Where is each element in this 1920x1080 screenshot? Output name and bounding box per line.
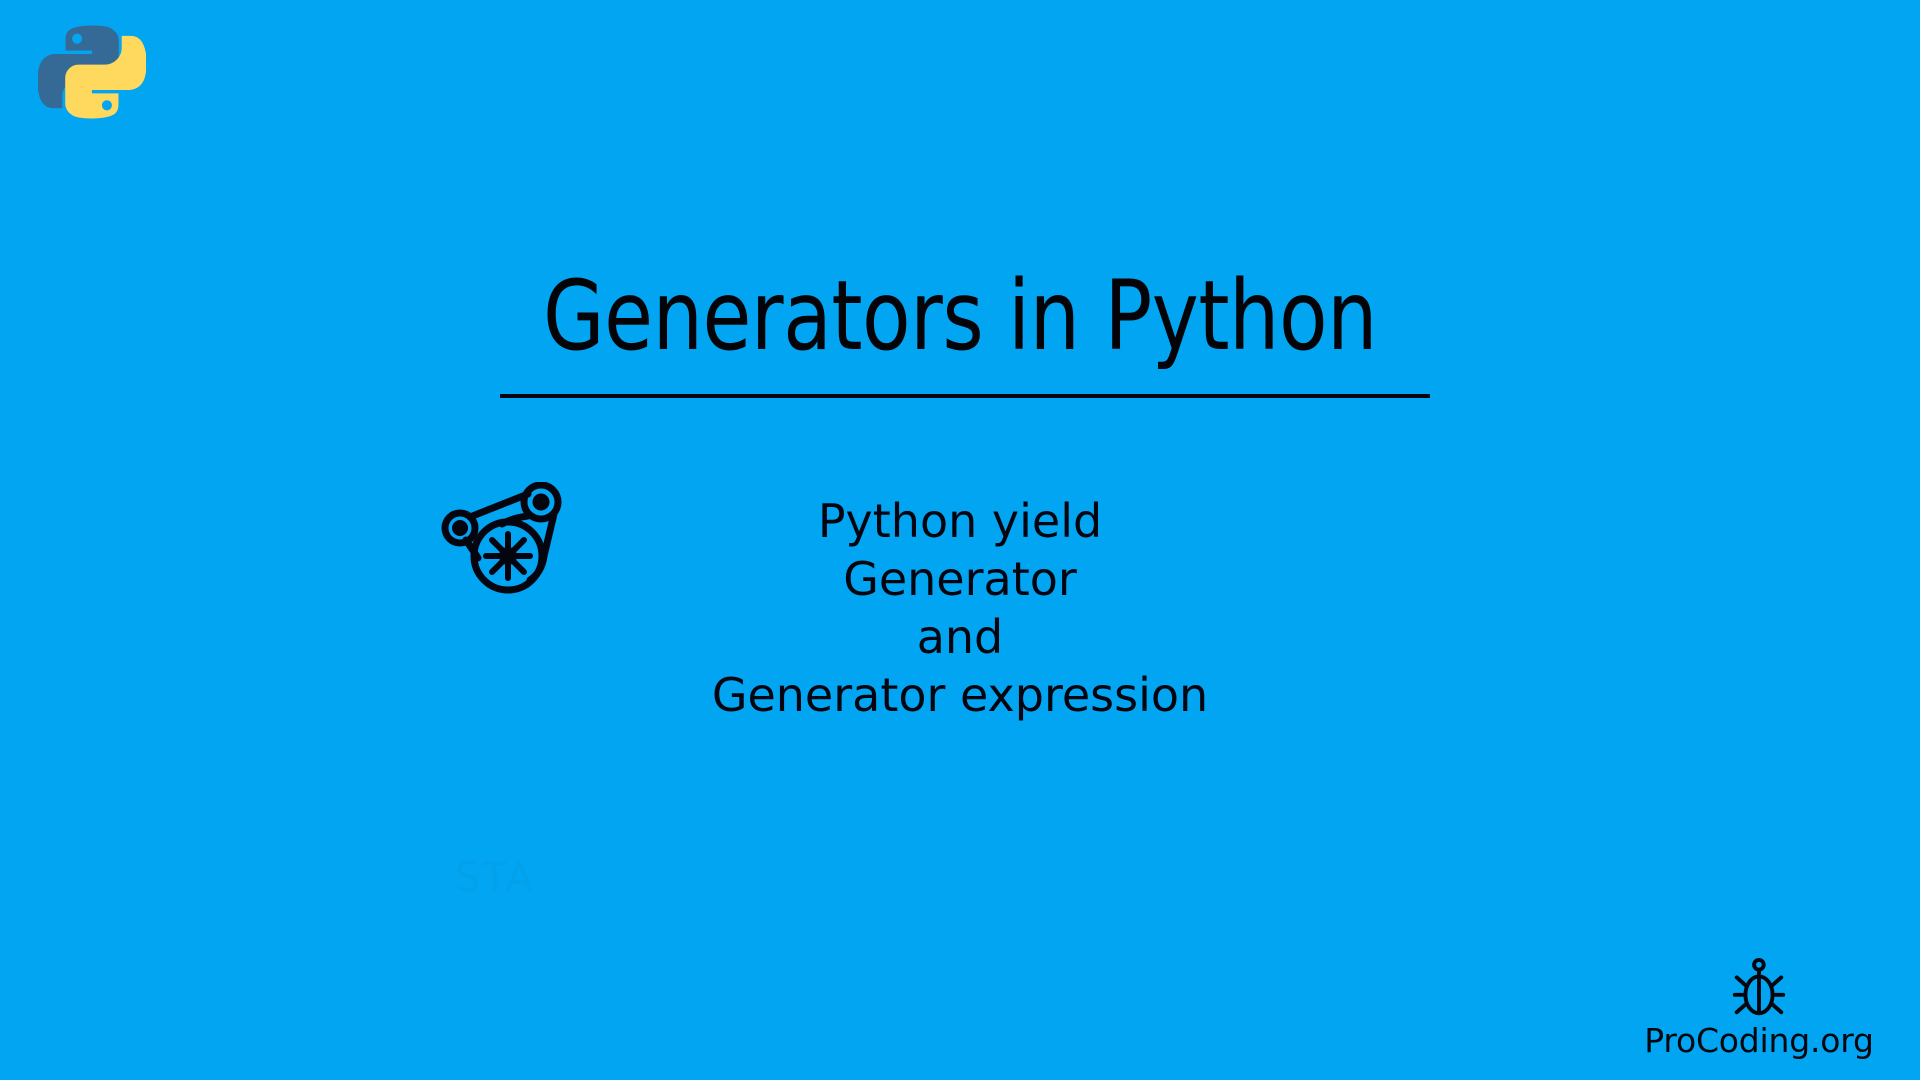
slide-canvas: Generators in Python [0, 0, 1920, 1080]
subtitle-block: Python yield Generator and Generator exp… [0, 492, 1920, 724]
brand-name: ProCoding.org [1634, 1020, 1884, 1062]
subtitle-line-2: Generator [0, 550, 1920, 608]
title-underline-rule [500, 394, 1430, 398]
page-title-container: Generators in Python [0, 268, 1920, 364]
subtitle-line-4: Generator expression [0, 666, 1920, 724]
python-logo [38, 18, 146, 126]
background-watermark-ghost: STA [455, 855, 535, 901]
subtitle-line-3: and [0, 608, 1920, 666]
brand-mark: ProCoding.org [1634, 958, 1884, 1062]
page-title: Generators in Python [77, 268, 1843, 364]
subtitle-line-1: Python yield [0, 492, 1920, 550]
bug-icon [1634, 958, 1884, 1020]
